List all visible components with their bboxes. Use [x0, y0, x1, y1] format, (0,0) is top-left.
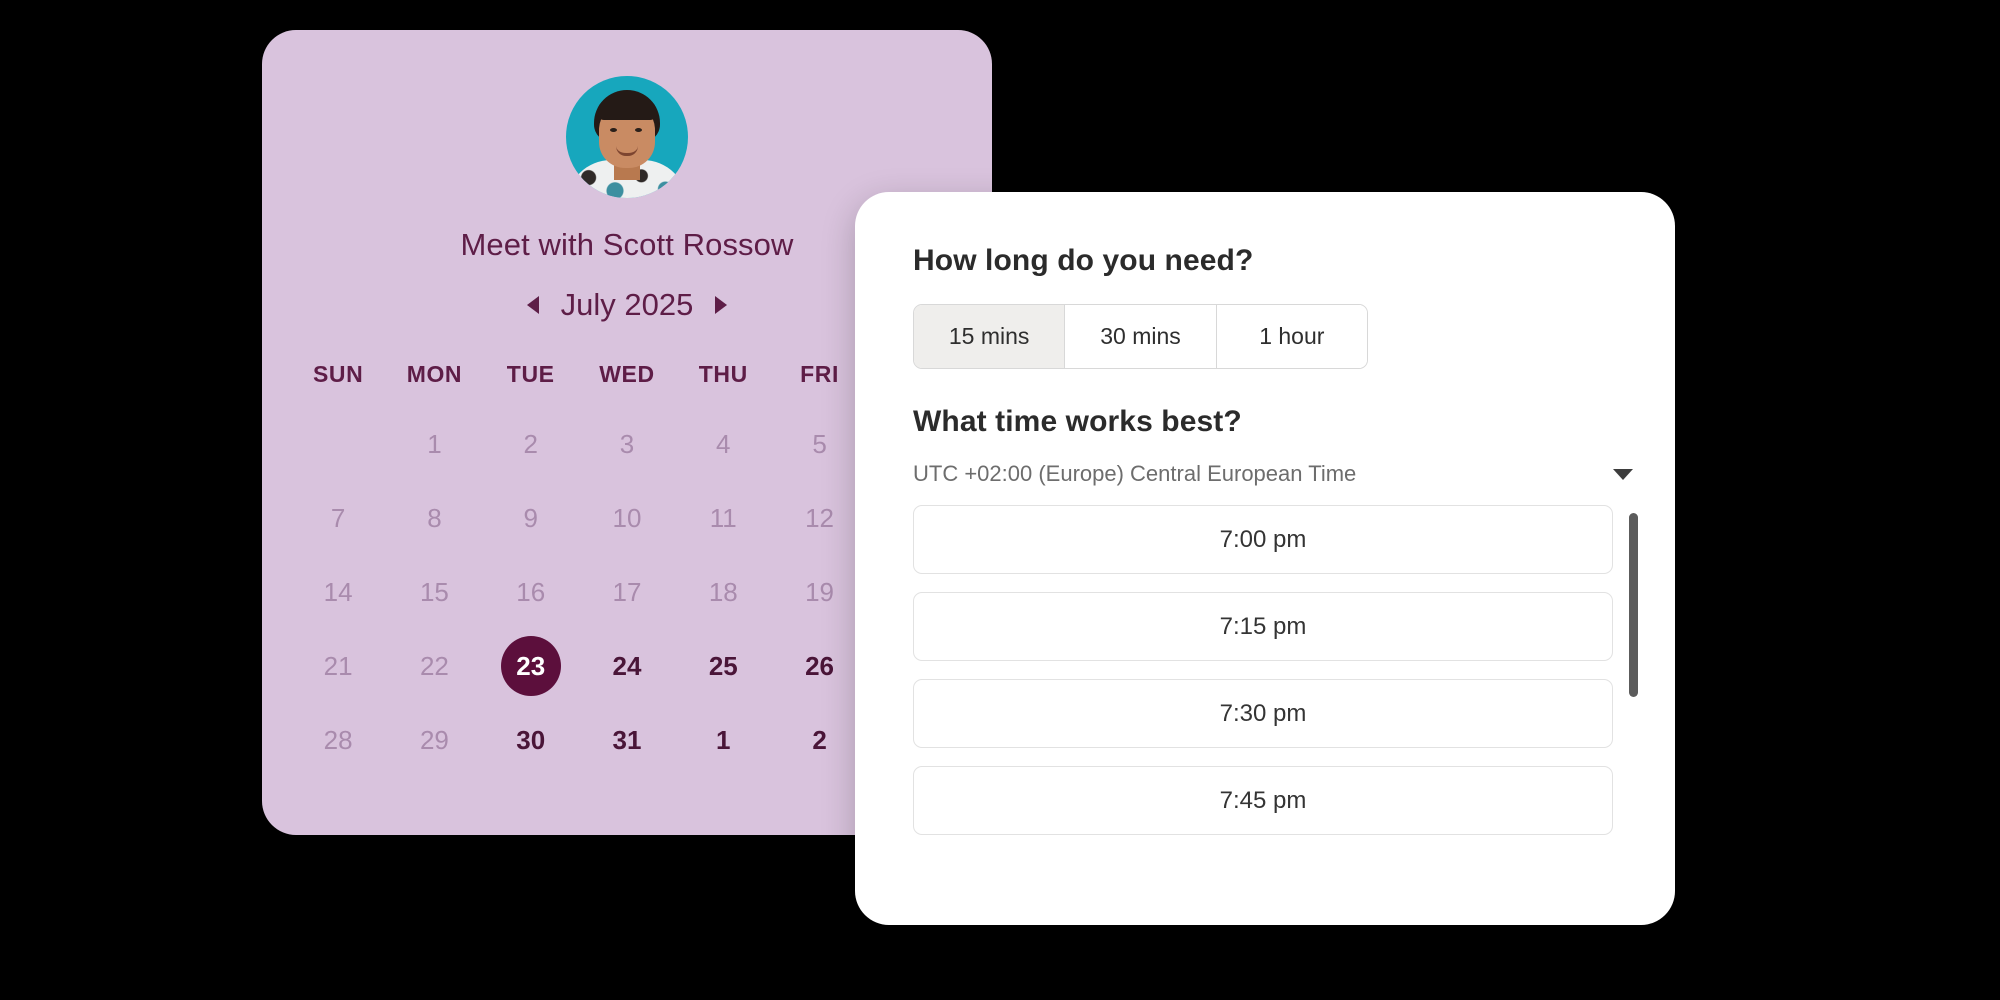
date-number [308, 414, 368, 474]
date-number: 29 [404, 710, 464, 770]
duration-button-15-mins[interactable]: 15 mins [914, 305, 1065, 368]
date-number: 1 [693, 710, 753, 770]
date-number: 22 [404, 636, 464, 696]
date-number: 24 [597, 636, 657, 696]
date-cell-2: 2 [483, 414, 579, 474]
date-number: 12 [790, 488, 850, 548]
date-number: 2 [790, 710, 850, 770]
timezone-label: UTC +02:00 (Europe) Central European Tim… [913, 461, 1356, 487]
date-cell-30[interactable]: 30 [483, 710, 579, 770]
date-cell-18: 18 [675, 562, 771, 622]
date-number: 25 [693, 636, 753, 696]
date-cell-8: 8 [386, 488, 482, 548]
duration-button-1-hour[interactable]: 1 hour [1217, 305, 1367, 368]
avatar-eye-left [610, 128, 617, 132]
date-number: 21 [308, 636, 368, 696]
date-cell-10: 10 [579, 488, 675, 548]
date-number: 16 [501, 562, 561, 622]
scrollbar-thumb[interactable] [1629, 513, 1638, 697]
date-number: 10 [597, 488, 657, 548]
date-number: 7 [308, 488, 368, 548]
weekday-sun: SUN [290, 361, 386, 388]
caret-right-icon[interactable] [715, 296, 727, 314]
scrollbar-track[interactable] [1629, 513, 1638, 803]
date-cell-9: 9 [483, 488, 579, 548]
date-number: 18 [693, 562, 753, 622]
date-cell-1: 1 [386, 414, 482, 474]
date-number: 4 [693, 414, 753, 474]
date-number: 2 [501, 414, 561, 474]
timezone-selector[interactable]: UTC +02:00 (Europe) Central European Tim… [913, 461, 1633, 487]
weekday-mon: MON [386, 361, 482, 388]
date-number: 11 [693, 488, 753, 548]
duration-button-30-mins[interactable]: 30 mins [1065, 305, 1216, 368]
date-cell-17: 17 [579, 562, 675, 622]
time-slot-7-00-pm[interactable]: 7:00 pm [913, 505, 1613, 574]
date-number: 8 [404, 488, 464, 548]
date-cell-1[interactable]: 1 [675, 710, 771, 770]
duration-heading: How long do you need? [913, 244, 1617, 278]
date-cell-29: 29 [386, 710, 482, 770]
date-number: 1 [404, 414, 464, 474]
weekday-fri: FRI [771, 361, 867, 388]
date-number: 30 [501, 710, 561, 770]
avatar-fringe [597, 98, 657, 120]
date-cell-3: 3 [579, 414, 675, 474]
date-number: 26 [790, 636, 850, 696]
date-cell-25[interactable]: 25 [675, 636, 771, 696]
time-heading: What time works best? [913, 405, 1617, 439]
date-number: 9 [501, 488, 561, 548]
duration-segmented-control: 15 mins30 mins1 hour [913, 304, 1368, 369]
time-slot-7-15-pm[interactable]: 7:15 pm [913, 592, 1613, 661]
date-number: 14 [308, 562, 368, 622]
time-slots-area: 7:00 pm7:15 pm7:30 pm7:45 pm [913, 505, 1638, 835]
date-number: 17 [597, 562, 657, 622]
date-cell-5: 5 [771, 414, 867, 474]
date-cell-24[interactable]: 24 [579, 636, 675, 696]
weekday-tue: TUE [483, 361, 579, 388]
time-slot-list: 7:00 pm7:15 pm7:30 pm7:45 pm [913, 505, 1613, 835]
date-number: 23 [501, 636, 561, 696]
date-cell-16: 16 [483, 562, 579, 622]
date-number: 5 [790, 414, 850, 474]
booking-panel: How long do you need? 15 mins30 mins1 ho… [855, 192, 1675, 925]
date-number: 3 [597, 414, 657, 474]
date-cell-31[interactable]: 31 [579, 710, 675, 770]
date-cell-28: 28 [290, 710, 386, 770]
date-cell-empty [290, 414, 386, 474]
caret-down-icon[interactable] [1613, 469, 1633, 480]
date-number: 28 [308, 710, 368, 770]
weekday-thu: THU [675, 361, 771, 388]
date-number: 31 [597, 710, 657, 770]
date-cell-21: 21 [290, 636, 386, 696]
date-cell-11: 11 [675, 488, 771, 548]
avatar-eye-right [635, 128, 642, 132]
date-cell-19: 19 [771, 562, 867, 622]
time-slot-7-45-pm[interactable]: 7:45 pm [913, 766, 1613, 835]
date-cell-4: 4 [675, 414, 771, 474]
date-cell-15: 15 [386, 562, 482, 622]
time-slot-7-30-pm[interactable]: 7:30 pm [913, 679, 1613, 748]
date-cell-23[interactable]: 23 [483, 636, 579, 696]
date-cell-14: 14 [290, 562, 386, 622]
date-cell-22: 22 [386, 636, 482, 696]
date-cell-2[interactable]: 2 [771, 710, 867, 770]
date-number: 15 [404, 562, 464, 622]
avatar [566, 76, 688, 198]
month-label: July 2025 [561, 287, 694, 323]
date-cell-7: 7 [290, 488, 386, 548]
date-cell-12: 12 [771, 488, 867, 548]
date-cell-26[interactable]: 26 [771, 636, 867, 696]
caret-left-icon[interactable] [527, 296, 539, 314]
weekday-wed: WED [579, 361, 675, 388]
date-number: 19 [790, 562, 850, 622]
